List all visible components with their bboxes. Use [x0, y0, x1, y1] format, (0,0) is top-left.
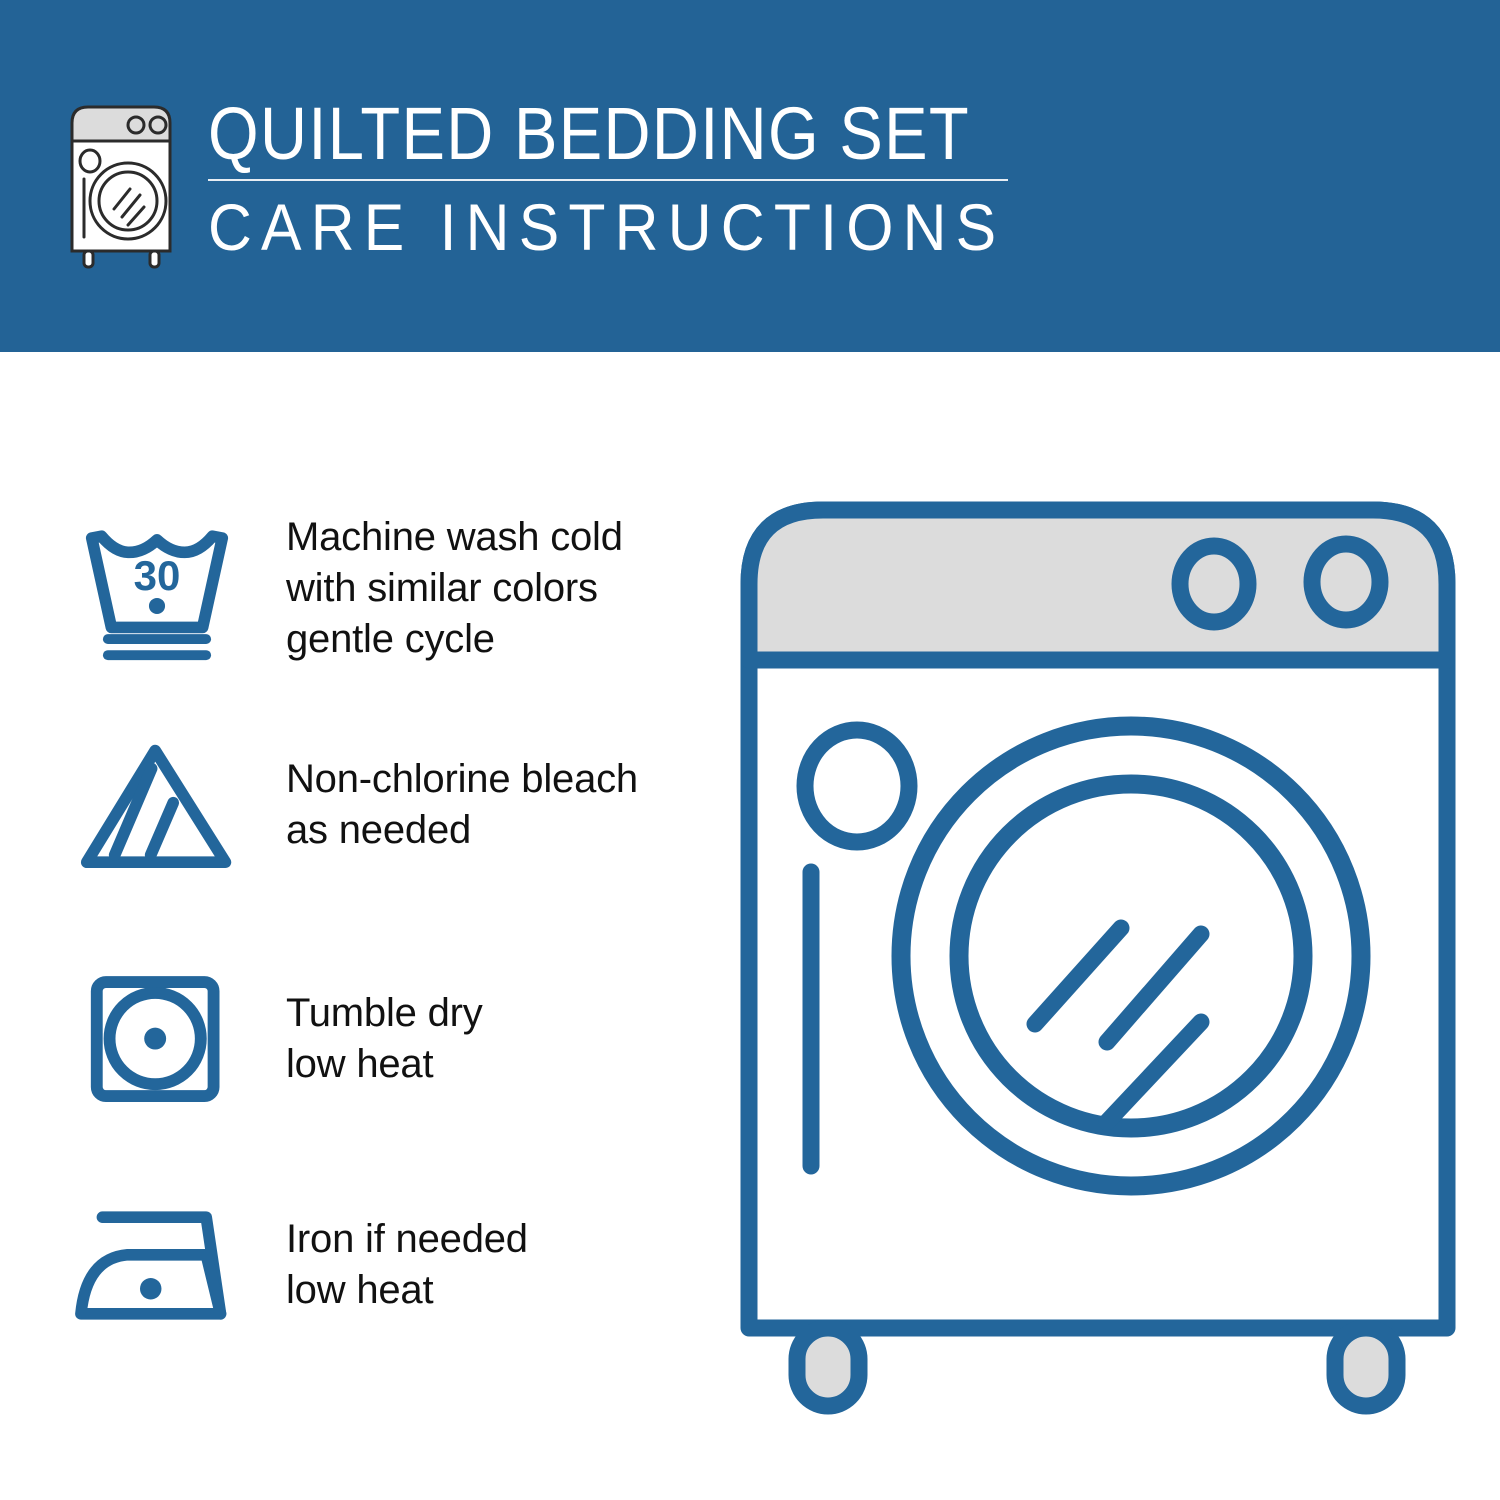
page-subtitle: CARE INSTRUCTIONS	[208, 191, 1005, 263]
page-title: QUILTED BEDDING SET	[208, 95, 971, 173]
care-row-iron: Iron if needed low heat	[72, 1190, 712, 1340]
care-row-tumble-dry: Tumble dry low heat	[72, 964, 712, 1114]
care-text-bleach: Non-chlorine bleach as needed	[286, 754, 638, 856]
page-header: QUILTED BEDDING SET CARE INSTRUCTIONS	[0, 0, 1500, 352]
control-dial-2[interactable]	[1312, 544, 1380, 620]
iron-low-heat-icon	[72, 1190, 242, 1340]
header-content: QUILTED BEDDING SET CARE INSTRUCTIONS	[62, 95, 1075, 273]
svg-text:30: 30	[134, 551, 181, 598]
care-row-wash: 30 Machine wash cold with similar colors…	[72, 512, 712, 665]
care-text-iron: Iron if needed low heat	[286, 1214, 528, 1316]
washing-machine-illustration	[735, 488, 1461, 1418]
care-text-tumble-dry: Tumble dry low heat	[286, 988, 483, 1090]
machine-foot-right	[1335, 1328, 1397, 1406]
machine-foot-left	[797, 1328, 859, 1406]
non-chlorine-bleach-triangle-icon	[72, 730, 242, 880]
drum-inner-ring	[959, 784, 1303, 1128]
care-instructions-list: 30 Machine wash cold with similar colors…	[0, 352, 740, 1500]
care-text-wash: Machine wash cold with similar colors ge…	[286, 512, 623, 665]
tumble-dry-low-icon	[72, 964, 242, 1114]
care-row-bleach: Non-chlorine bleach as needed	[72, 730, 712, 880]
washing-machine-icon	[62, 101, 180, 273]
title-divider	[208, 179, 1008, 181]
control-dial-1[interactable]	[1180, 546, 1248, 622]
door-knob[interactable]	[805, 730, 909, 842]
wash-tub-30-gentle-icon: 30	[72, 514, 242, 664]
header-title-block: QUILTED BEDDING SET CARE INSTRUCTIONS	[208, 95, 1075, 263]
